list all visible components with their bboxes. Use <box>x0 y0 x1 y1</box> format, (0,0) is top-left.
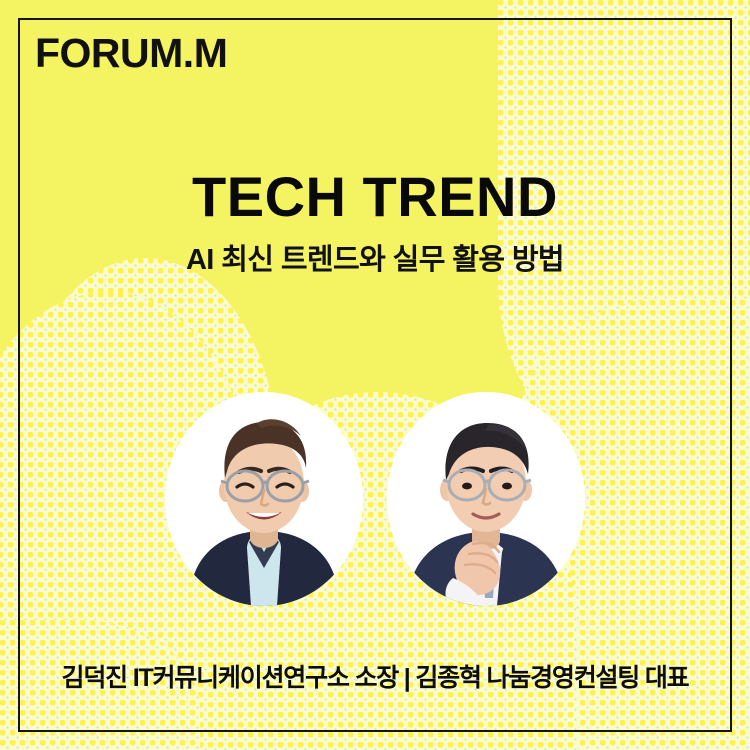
speaker-portrait-group <box>0 392 750 606</box>
poster-keyline-frame <box>18 18 732 732</box>
avatar-speaker-right <box>387 392 585 606</box>
speaker-caption: 김덕진 IT커뮤니케이션연구소 소장 | 김종혁 나눔경영컨설팅 대표 <box>0 658 750 694</box>
page-subtitle: AI 최신 트렌드와 실무 활용 방법 <box>0 245 750 277</box>
page-title: TECH TREND <box>0 168 750 225</box>
headline-block: TECH TREND AI 최신 트렌드와 실무 활용 방법 <box>0 168 750 277</box>
halftone-background-pattern <box>0 0 750 750</box>
avatar-speaker-left <box>165 392 363 606</box>
poster-canvas: FORUM.M TECH TREND AI 최신 트렌드와 실무 활용 방법 <box>0 0 750 750</box>
brand-logo: FORUM.M <box>35 33 227 74</box>
